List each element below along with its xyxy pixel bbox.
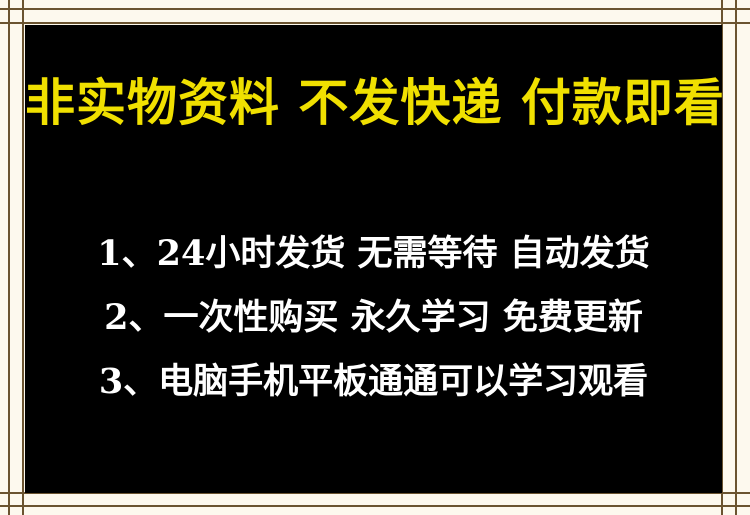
content-panel: 非实物资料 不发快递 付款即看 1、24小时发货 无需等待 自动发货 2、一次性… — [25, 25, 722, 493]
frame-rule-left-outer — [8, 0, 10, 515]
bullet-item-3: 3、电脑手机平板通通可以学习观看 — [25, 353, 722, 411]
frame-rule-top-outer — [0, 8, 750, 10]
bullet-item-2: 2、一次性购买 永久学习 免费更新 — [25, 289, 722, 347]
headline-text: 非实物资料 不发快递 付款即看 — [25, 72, 722, 134]
promo-banner: 非实物资料 不发快递 付款即看 1、24小时发货 无需等待 自动发货 2、一次性… — [0, 0, 750, 515]
frame-rule-top-inner — [0, 22, 750, 24]
frame-rule-bottom-outer — [0, 505, 750, 507]
frame-rule-right-outer — [735, 0, 737, 515]
bullet-item-1: 1、24小时发货 无需等待 自动发货 — [25, 225, 722, 283]
frame-rule-left-inner — [22, 0, 24, 515]
bullet-list: 1、24小时发货 无需等待 自动发货 2、一次性购买 永久学习 免费更新 3、电… — [25, 225, 722, 411]
